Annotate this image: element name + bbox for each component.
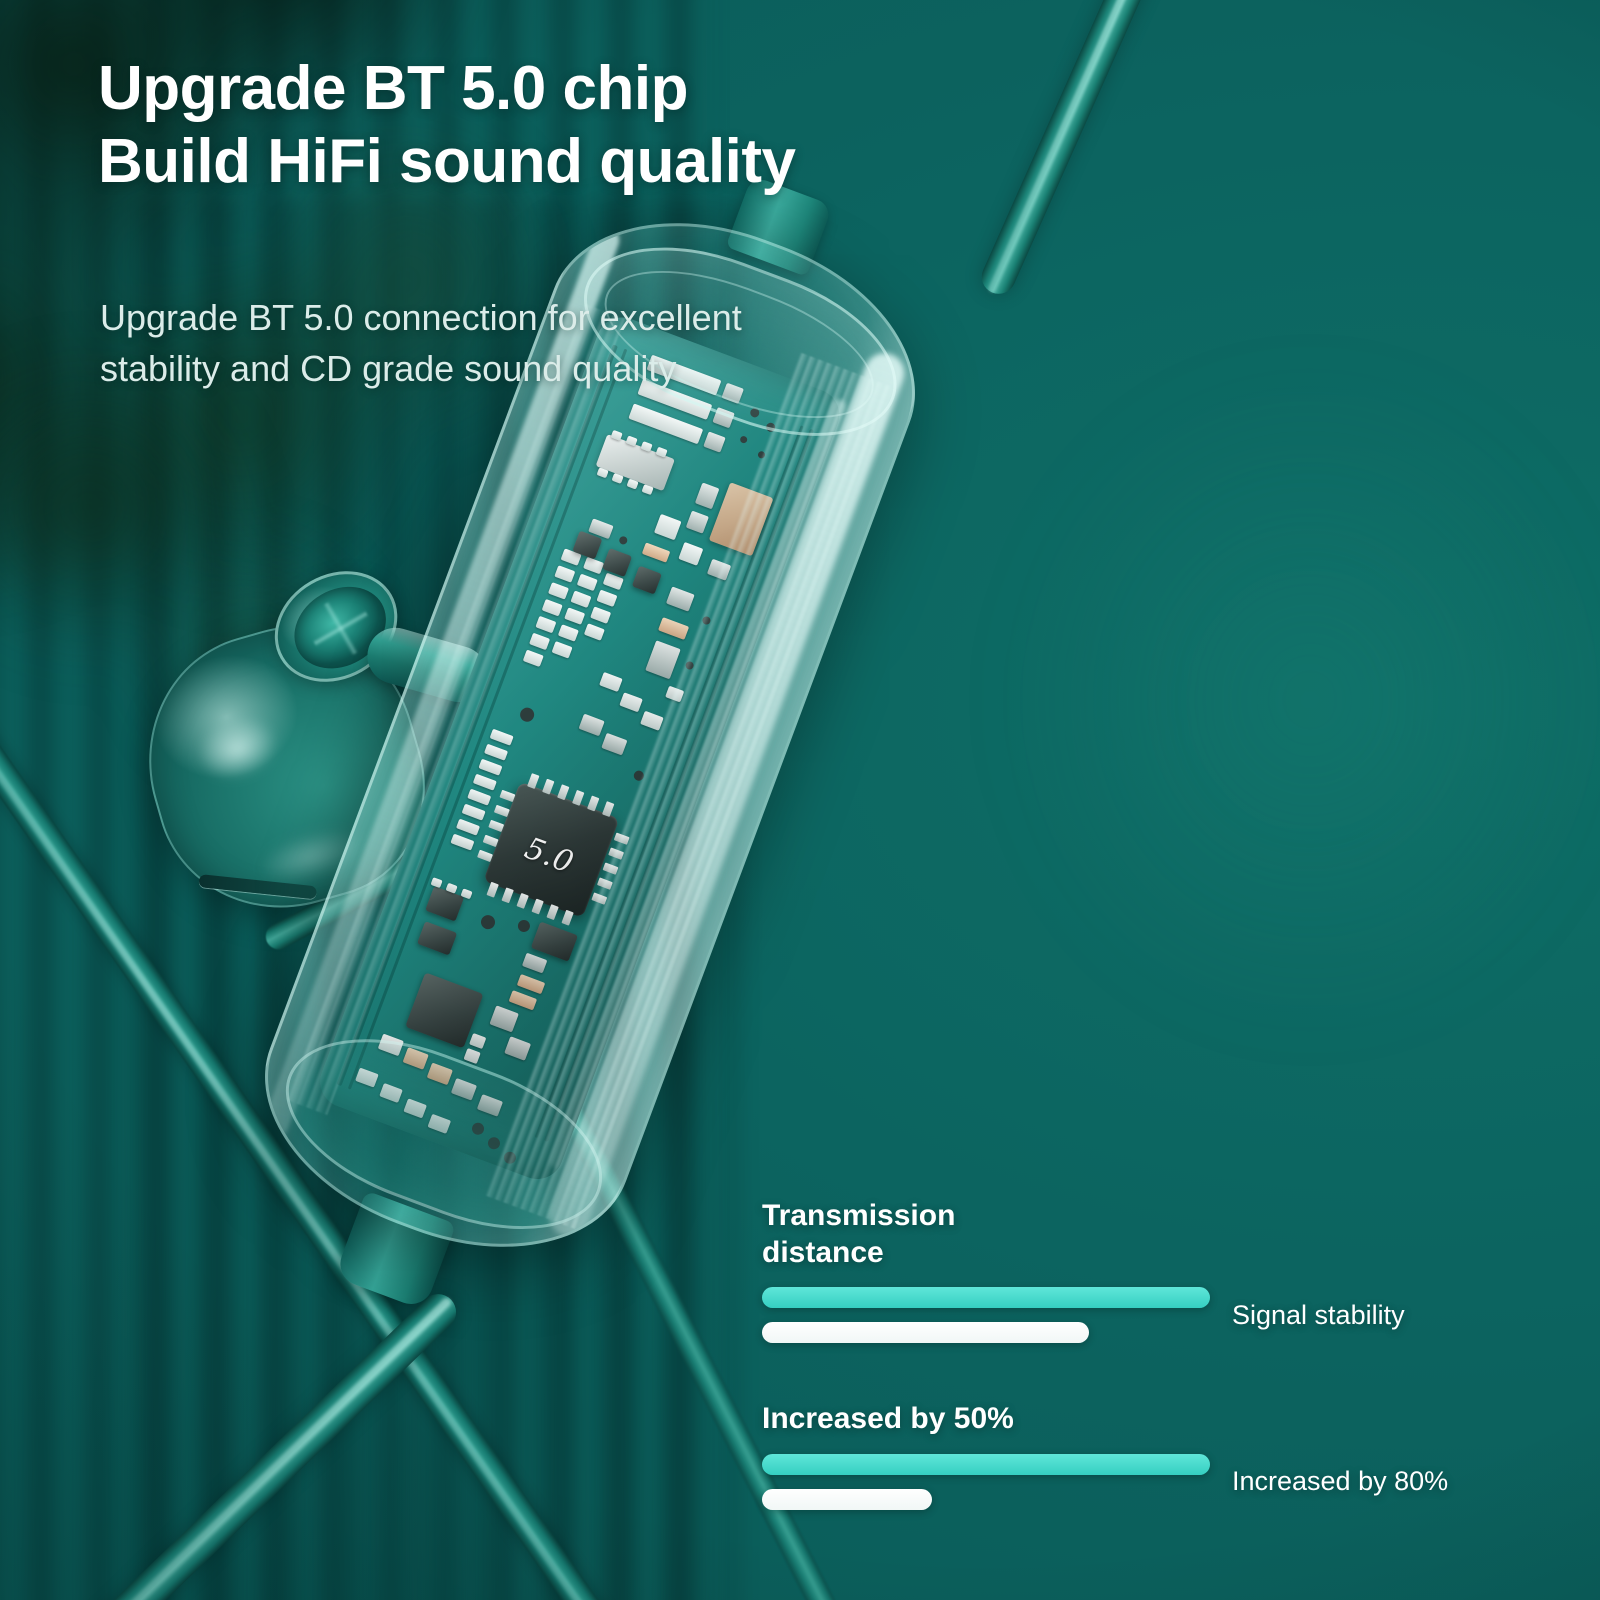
headline-block: Upgrade BT 5.0 chip Build HiFi sound qua… xyxy=(98,52,1018,198)
stat-group-increase: Increased by 50% Increased by 80% xyxy=(762,1401,1562,1510)
stat-bar-track xyxy=(762,1287,1210,1343)
stat-bar-primary xyxy=(762,1454,1210,1475)
stat-title: Increased by 50% xyxy=(762,1401,1062,1438)
stat-bar-label: Signal stability xyxy=(1232,1300,1405,1331)
stat-bar-label: Increased by 80% xyxy=(1232,1466,1448,1497)
stat-group-transmission: Transmission distance Signal stability xyxy=(762,1198,1562,1343)
subtext-paragraph: Upgrade BT 5.0 connection for excellent … xyxy=(100,292,800,394)
headline-line-1: Upgrade BT 5.0 chip xyxy=(98,52,1018,125)
stat-bar-row: Signal stability xyxy=(762,1287,1562,1343)
stat-title: Transmission distance xyxy=(762,1198,1062,1271)
stat-bar-row: Increased by 80% xyxy=(762,1454,1562,1510)
stats-block: Transmission distance Signal stability I… xyxy=(762,1198,1562,1568)
stat-bar-secondary xyxy=(762,1322,1089,1343)
stat-bar-track xyxy=(762,1454,1210,1510)
headline-line-2: Build HiFi sound quality xyxy=(98,125,1018,198)
stat-bar-primary xyxy=(762,1287,1210,1308)
stat-bar-secondary xyxy=(762,1489,932,1510)
product-feature-banner: 5.0 xyxy=(0,0,1600,1600)
